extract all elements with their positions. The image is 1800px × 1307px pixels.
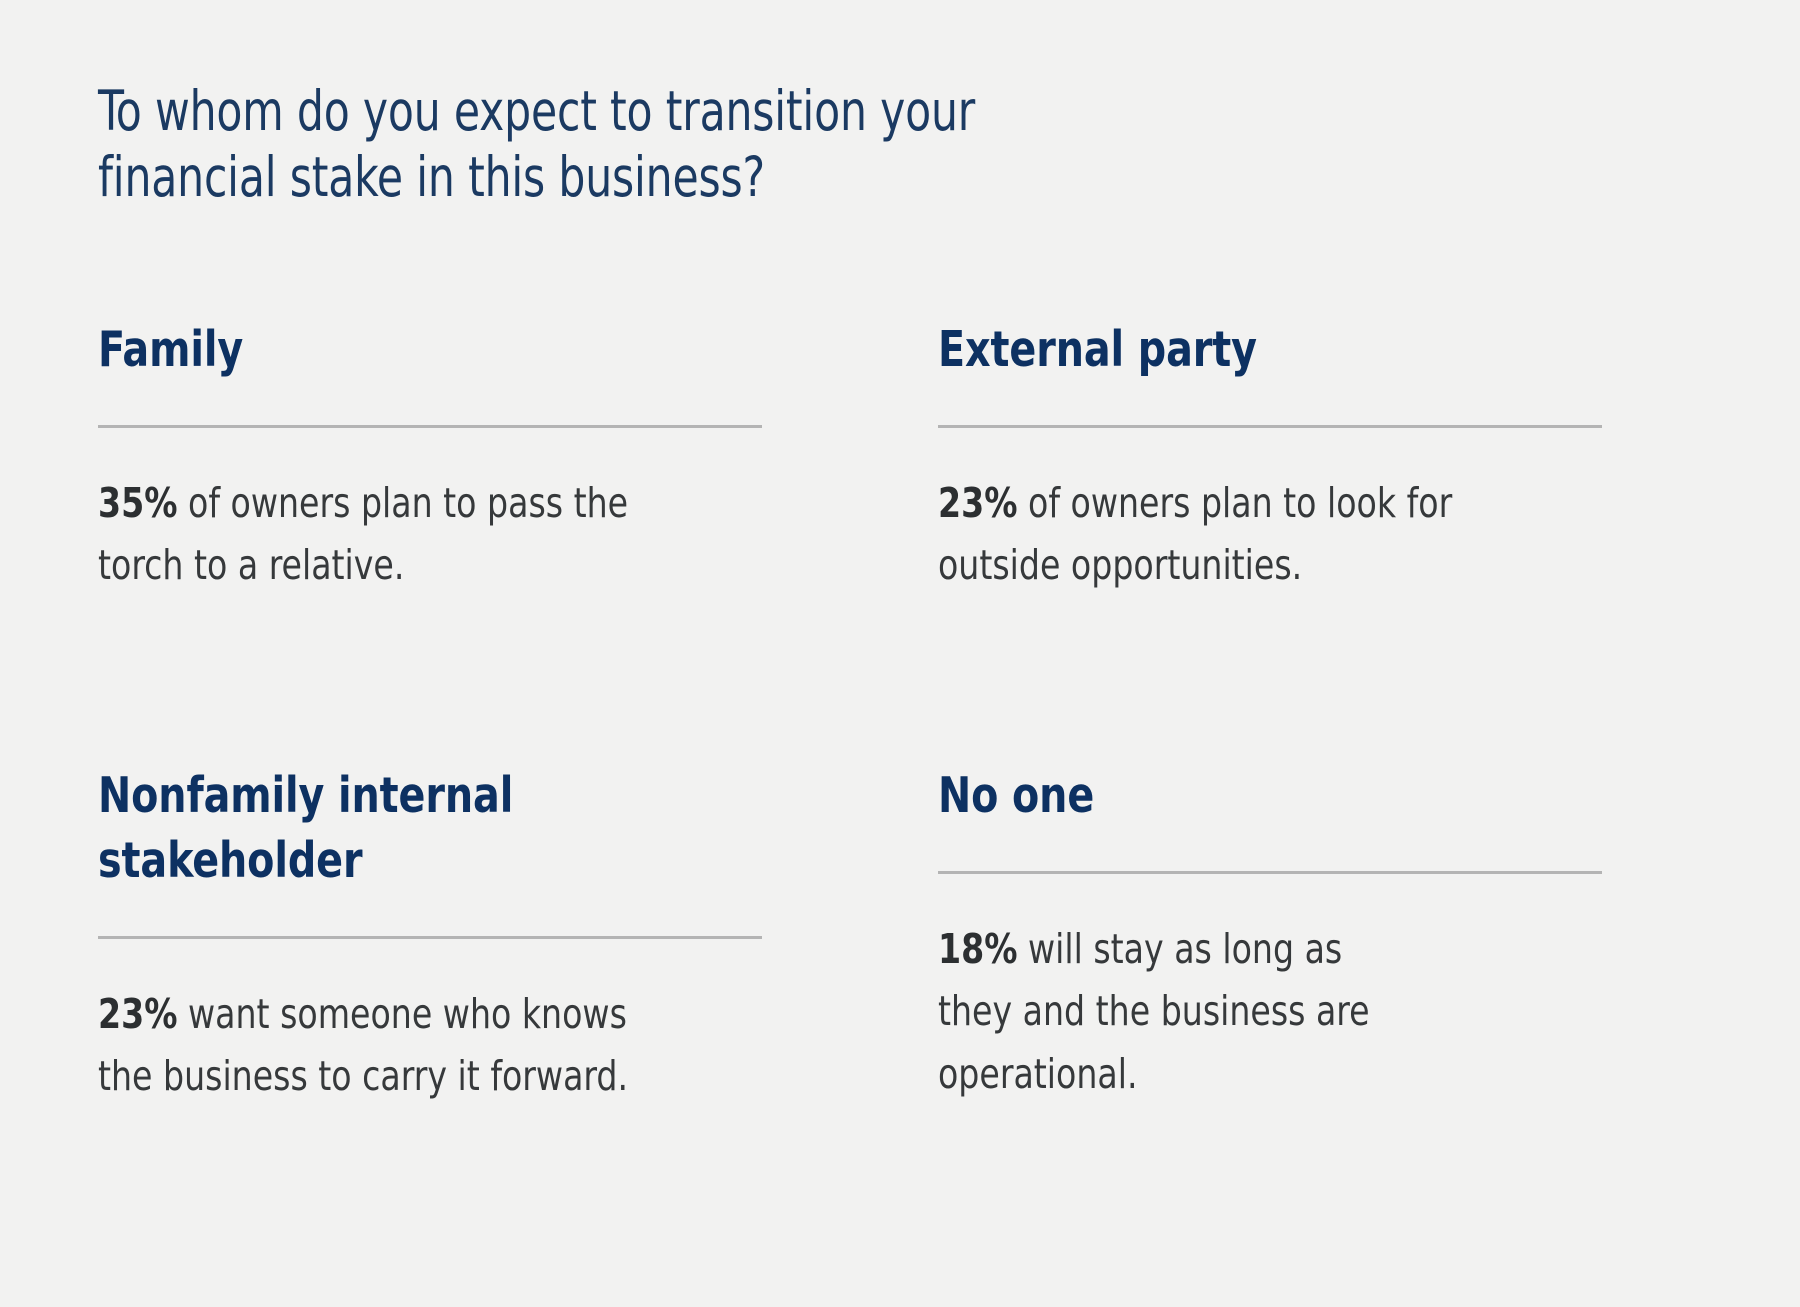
- infographic-root: To whom do you expect to transition your…: [0, 0, 1800, 1307]
- title-block: To whom do you expect to transition your…: [98, 78, 1298, 210]
- page-title: To whom do you expect to transition your…: [98, 78, 1130, 210]
- stat-percent: 23%: [98, 990, 177, 1038]
- stat-description: want someone who knows the business to c…: [98, 990, 628, 1100]
- stat-card-divider: [98, 936, 762, 939]
- stat-card-no-one: No one 18% will stay as long as they and…: [938, 656, 1602, 1107]
- stat-card-divider: [98, 425, 762, 428]
- stat-card-heading: External party: [938, 318, 1536, 383]
- stats-grid: Family 35% of owners plan to pass the to…: [98, 318, 1602, 1107]
- stat-card-body: 23% of owners plan to look for outside o…: [938, 472, 1536, 597]
- stat-card-body: 18% will stay as long as they and the bu…: [938, 918, 1536, 1105]
- stat-card-body: 35% of owners plan to pass the torch to …: [98, 472, 696, 597]
- stat-percent: 35%: [98, 479, 177, 527]
- stat-description: of owners plan to pass the torch to a re…: [98, 479, 628, 589]
- stat-card-divider: [938, 425, 1602, 428]
- stat-percent: 18%: [938, 925, 1017, 973]
- stat-percent: 23%: [938, 479, 1017, 527]
- stat-card-heading: Nonfamily internal stakeholder: [98, 764, 696, 893]
- stat-card-divider: [938, 871, 1602, 874]
- stat-card-family: Family 35% of owners plan to pass the to…: [98, 318, 762, 656]
- stat-card-heading: Family: [98, 318, 696, 383]
- stat-card-body: 23% want someone who knows the business …: [98, 983, 696, 1108]
- stat-card-nonfamily-internal-stakeholder: Nonfamily internal stakeholder 23% want …: [98, 656, 762, 1107]
- stat-card-external-party: External party 23% of owners plan to loo…: [938, 318, 1602, 656]
- stat-card-heading: No one: [938, 764, 1536, 829]
